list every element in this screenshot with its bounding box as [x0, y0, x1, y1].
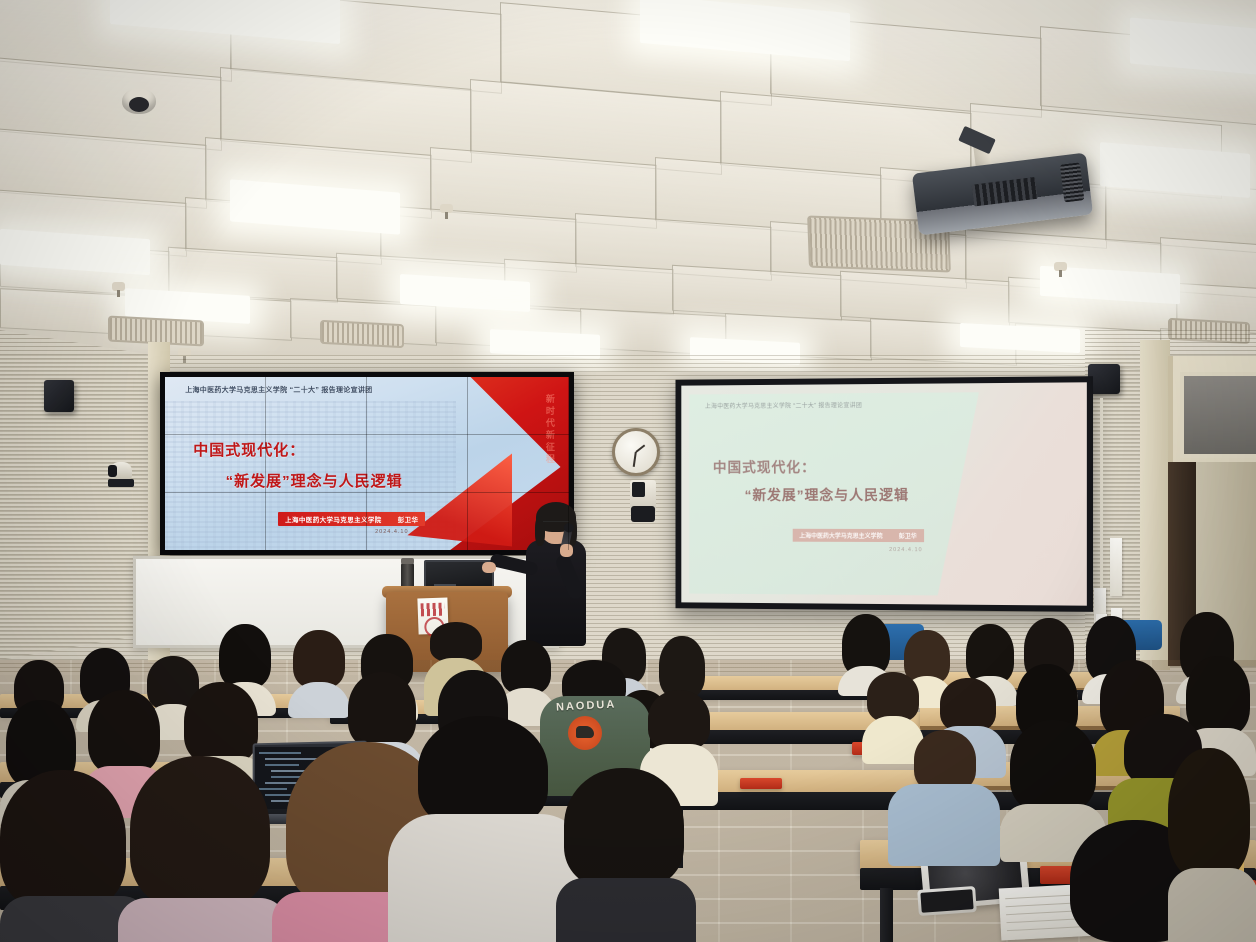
door-window [1180, 372, 1256, 458]
projector-panel [972, 177, 1038, 207]
projected-title-line2: “新发展”理念与人民逻辑 [745, 485, 909, 505]
projector-vent-grille [1060, 162, 1084, 202]
presenter [518, 506, 594, 646]
slide-footer-org: 上海中医药大学马克思主义学院 [285, 514, 382, 524]
projection-screen: 上海中医药大学马克思主义学院 “二十大” 报告理论宣讲团 中国式现代化： “新发… [675, 376, 1093, 612]
lecture-hall-photo: 新时代新征程 上海中医药大学马克思主义学院 “二十大” 报告理论宣讲团 中国式现… [0, 0, 1256, 942]
clock-minute-hand [633, 452, 637, 467]
projected-footer-banner: 上海中医药大学马克思主义学院 彭卫华 [792, 529, 923, 542]
student-foreground [118, 756, 288, 942]
student-foreground [1168, 748, 1256, 942]
led-slide: 新时代新征程 上海中医药大学马克思主义学院 “二十大” 报告理论宣讲团 中国式现… [165, 377, 569, 550]
slide-footer-speaker: 彭卫华 [398, 514, 419, 524]
ptz-camera-base [108, 479, 134, 487]
wall-mounted-camera [630, 480, 656, 514]
fire-sprinkler-icon [112, 282, 125, 291]
slide-footer-date: 2024.4.10 [375, 529, 408, 535]
projected-title-line1: 中国式现代化： [713, 457, 816, 477]
ceiling-air-vent [320, 320, 404, 348]
paper-red-text [421, 603, 445, 617]
projected-footer-speaker: 彭卫华 [899, 531, 917, 540]
slide-ribbon-text: 新时代新征程 [544, 394, 557, 466]
slide-footer-banner: 上海中医药大学马克思主义学院 彭卫华 [278, 512, 425, 526]
student [888, 730, 1000, 860]
projected-footer-date: 2024.4.10 [889, 547, 923, 553]
led-video-wall: 新时代新征程 上海中医药大学马克思主义学院 “二十大” 报告理论宣讲团 中国式现… [160, 372, 574, 555]
presenter-left-hand [482, 562, 496, 573]
ptz-camera [108, 462, 134, 492]
fire-sprinkler-icon [1054, 262, 1067, 271]
phone-screen[interactable] [920, 889, 973, 913]
slide-title-line1: 中国式现代化： [193, 439, 305, 460]
presenter-right-hand [560, 544, 573, 557]
student-foreground [556, 768, 696, 942]
red-book [740, 778, 782, 789]
paper-strip [1110, 538, 1122, 596]
thermos-cap [401, 558, 414, 564]
camera-body [631, 506, 655, 522]
wall-speaker [44, 380, 74, 412]
wall-clock [612, 428, 660, 476]
fire-sprinkler-icon [440, 204, 453, 213]
projected-header-text: 上海中医药大学马克思主义学院 “二十大” 报告理论宣讲团 [705, 401, 971, 411]
projected-footer-org: 上海中医药大学马克思主义学院 [799, 531, 882, 540]
smartphone[interactable] [917, 886, 977, 916]
desk-leg [880, 888, 893, 942]
projected-slide: 上海中医药大学马克思主义学院 “二十大” 报告理论宣讲团 中国式现代化： “新发… [681, 382, 1087, 605]
dome-security-camera [122, 88, 156, 114]
slide-header-text: 上海中医药大学马克思主义学院 “二十大” 报告理论宣讲团 [185, 386, 468, 395]
slide-title-line2: “新发展”理念与人民逻辑 [226, 470, 403, 491]
camera-lens-icon [108, 465, 117, 477]
hanging-cord [1100, 398, 1103, 588]
